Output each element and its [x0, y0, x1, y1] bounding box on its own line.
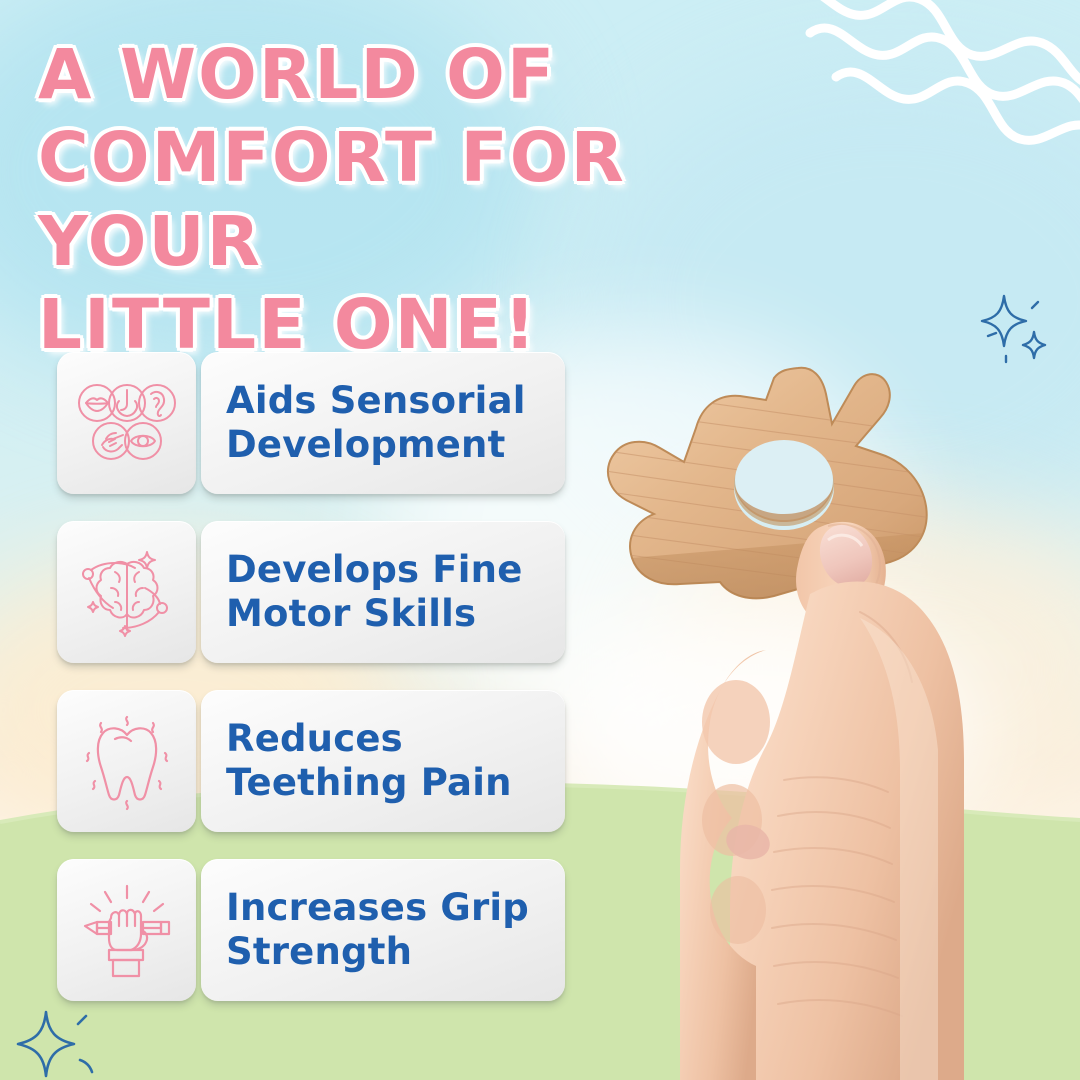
brain-orbit-icon: [75, 540, 179, 644]
feature-text-tile: Develops Fine Motor Skills: [201, 521, 565, 663]
feature-label: Develops Fine Motor Skills: [226, 548, 523, 635]
feature-label: Reduces Teething Pain: [226, 717, 512, 804]
feature-list: Aids Sensorial Development: [57, 352, 565, 1001]
feature-icon-tile: [57, 352, 196, 494]
adult-hand: [680, 517, 964, 1080]
feature-label: Aids Sensorial Development: [226, 379, 526, 466]
five-senses-icon: [75, 371, 179, 475]
list-item[interactable]: Develops Fine Motor Skills: [57, 521, 565, 663]
feature-text-tile: Reduces Teething Pain: [201, 690, 565, 832]
feature-label: Increases Grip Strength: [226, 886, 529, 973]
feature-icon-tile: [57, 521, 196, 663]
page-title: A World Of Comfort For Your Little One!: [38, 34, 848, 368]
feature-text-tile: Increases Grip Strength: [201, 859, 565, 1001]
tooth-pain-icon: [75, 709, 179, 813]
teether-body: [560, 368, 960, 610]
feature-text-tile: Aids Sensorial Development: [201, 352, 565, 494]
grip-strength-icon: [75, 878, 179, 982]
list-item[interactable]: Increases Grip Strength: [57, 859, 565, 1001]
feature-icon-tile: [57, 859, 196, 1001]
list-item[interactable]: Reduces Teething Pain: [57, 690, 565, 832]
feature-icon-tile: [57, 690, 196, 832]
wooden-teether-product-image: [560, 350, 1080, 1080]
promo-graphic: A World Of Comfort For Your Little One!: [0, 0, 1080, 1080]
list-item[interactable]: Aids Sensorial Development: [57, 352, 565, 494]
sparkle-icon: [6, 1002, 96, 1080]
